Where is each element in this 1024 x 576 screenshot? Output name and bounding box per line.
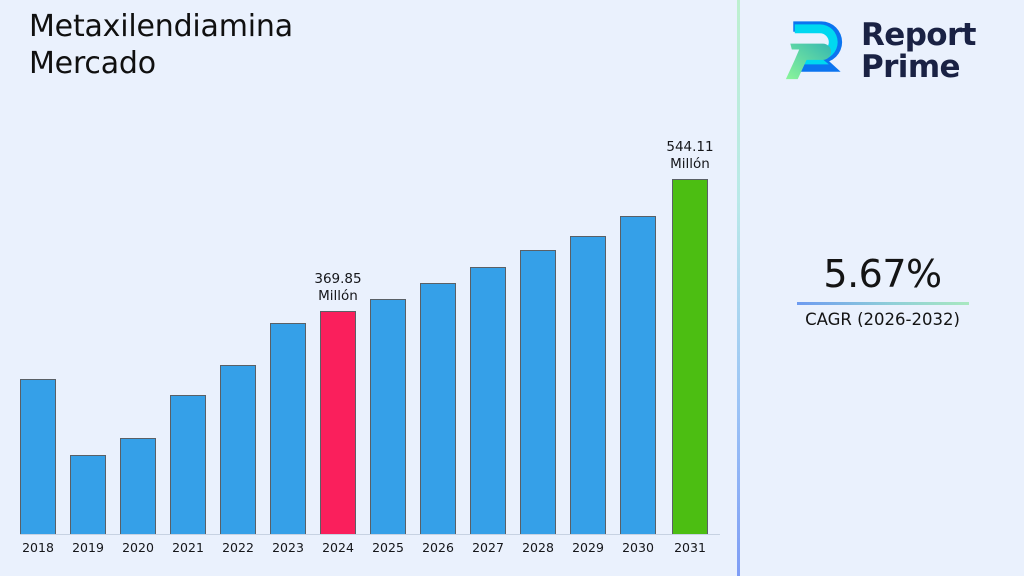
x-tick-2030: 2030 (613, 540, 663, 555)
chart-page: Metaxilendiamina Mercado 201820192020202… (0, 0, 1024, 576)
bar-2018[interactable] (20, 379, 56, 534)
cagr-caption: CAGR (2026-2032) (741, 309, 1024, 331)
bar-2027[interactable] (470, 267, 506, 534)
x-tick-2022: 2022 (213, 540, 263, 555)
x-tick-2029: 2029 (563, 540, 613, 555)
summary-panel: Report Prime 5.67% CAGR (2026-2032) (741, 0, 1024, 576)
x-tick-2027: 2027 (463, 540, 513, 555)
bar-2029[interactable] (570, 236, 606, 534)
cagr-value: 5.67% (741, 252, 1024, 296)
x-tick-2028: 2028 (513, 540, 563, 555)
bar-2030[interactable] (620, 216, 656, 534)
bar-2031[interactable] (672, 179, 708, 534)
bar-2025[interactable] (370, 299, 406, 534)
bar-value-label-2031: 544.11 Millón (645, 139, 735, 173)
panel-divider (737, 0, 740, 576)
x-tick-2024: 2024 (313, 540, 363, 555)
cagr-divider-rule (797, 302, 969, 305)
bar-2028[interactable] (520, 250, 556, 534)
bar-2024[interactable] (320, 311, 356, 534)
chart-panel: Metaxilendiamina Mercado 201820192020202… (0, 0, 738, 576)
x-tick-2031: 2031 (665, 540, 715, 555)
bar-2020[interactable] (120, 438, 156, 534)
x-tick-2026: 2026 (413, 540, 463, 555)
x-tick-2019: 2019 (63, 540, 113, 555)
x-tick-2020: 2020 (113, 540, 163, 555)
x-axis-line (20, 534, 720, 535)
x-tick-2018: 2018 (13, 540, 63, 555)
bar-chart-plot: 201820192020202120222023369.85 Millón202… (0, 0, 738, 576)
report-prime-logo: Report Prime (777, 10, 1007, 92)
report-prime-mark-icon (777, 14, 851, 88)
bar-2021[interactable] (170, 395, 206, 534)
brand-name: Report Prime (861, 19, 976, 83)
bar-2022[interactable] (220, 365, 256, 534)
cagr-block: 5.67% CAGR (2026-2032) (741, 252, 1024, 331)
bar-2019[interactable] (70, 455, 106, 534)
bar-2023[interactable] (270, 323, 306, 534)
x-tick-2025: 2025 (363, 540, 413, 555)
x-tick-2023: 2023 (263, 540, 313, 555)
bar-2026[interactable] (420, 283, 456, 534)
x-tick-2021: 2021 (163, 540, 213, 555)
